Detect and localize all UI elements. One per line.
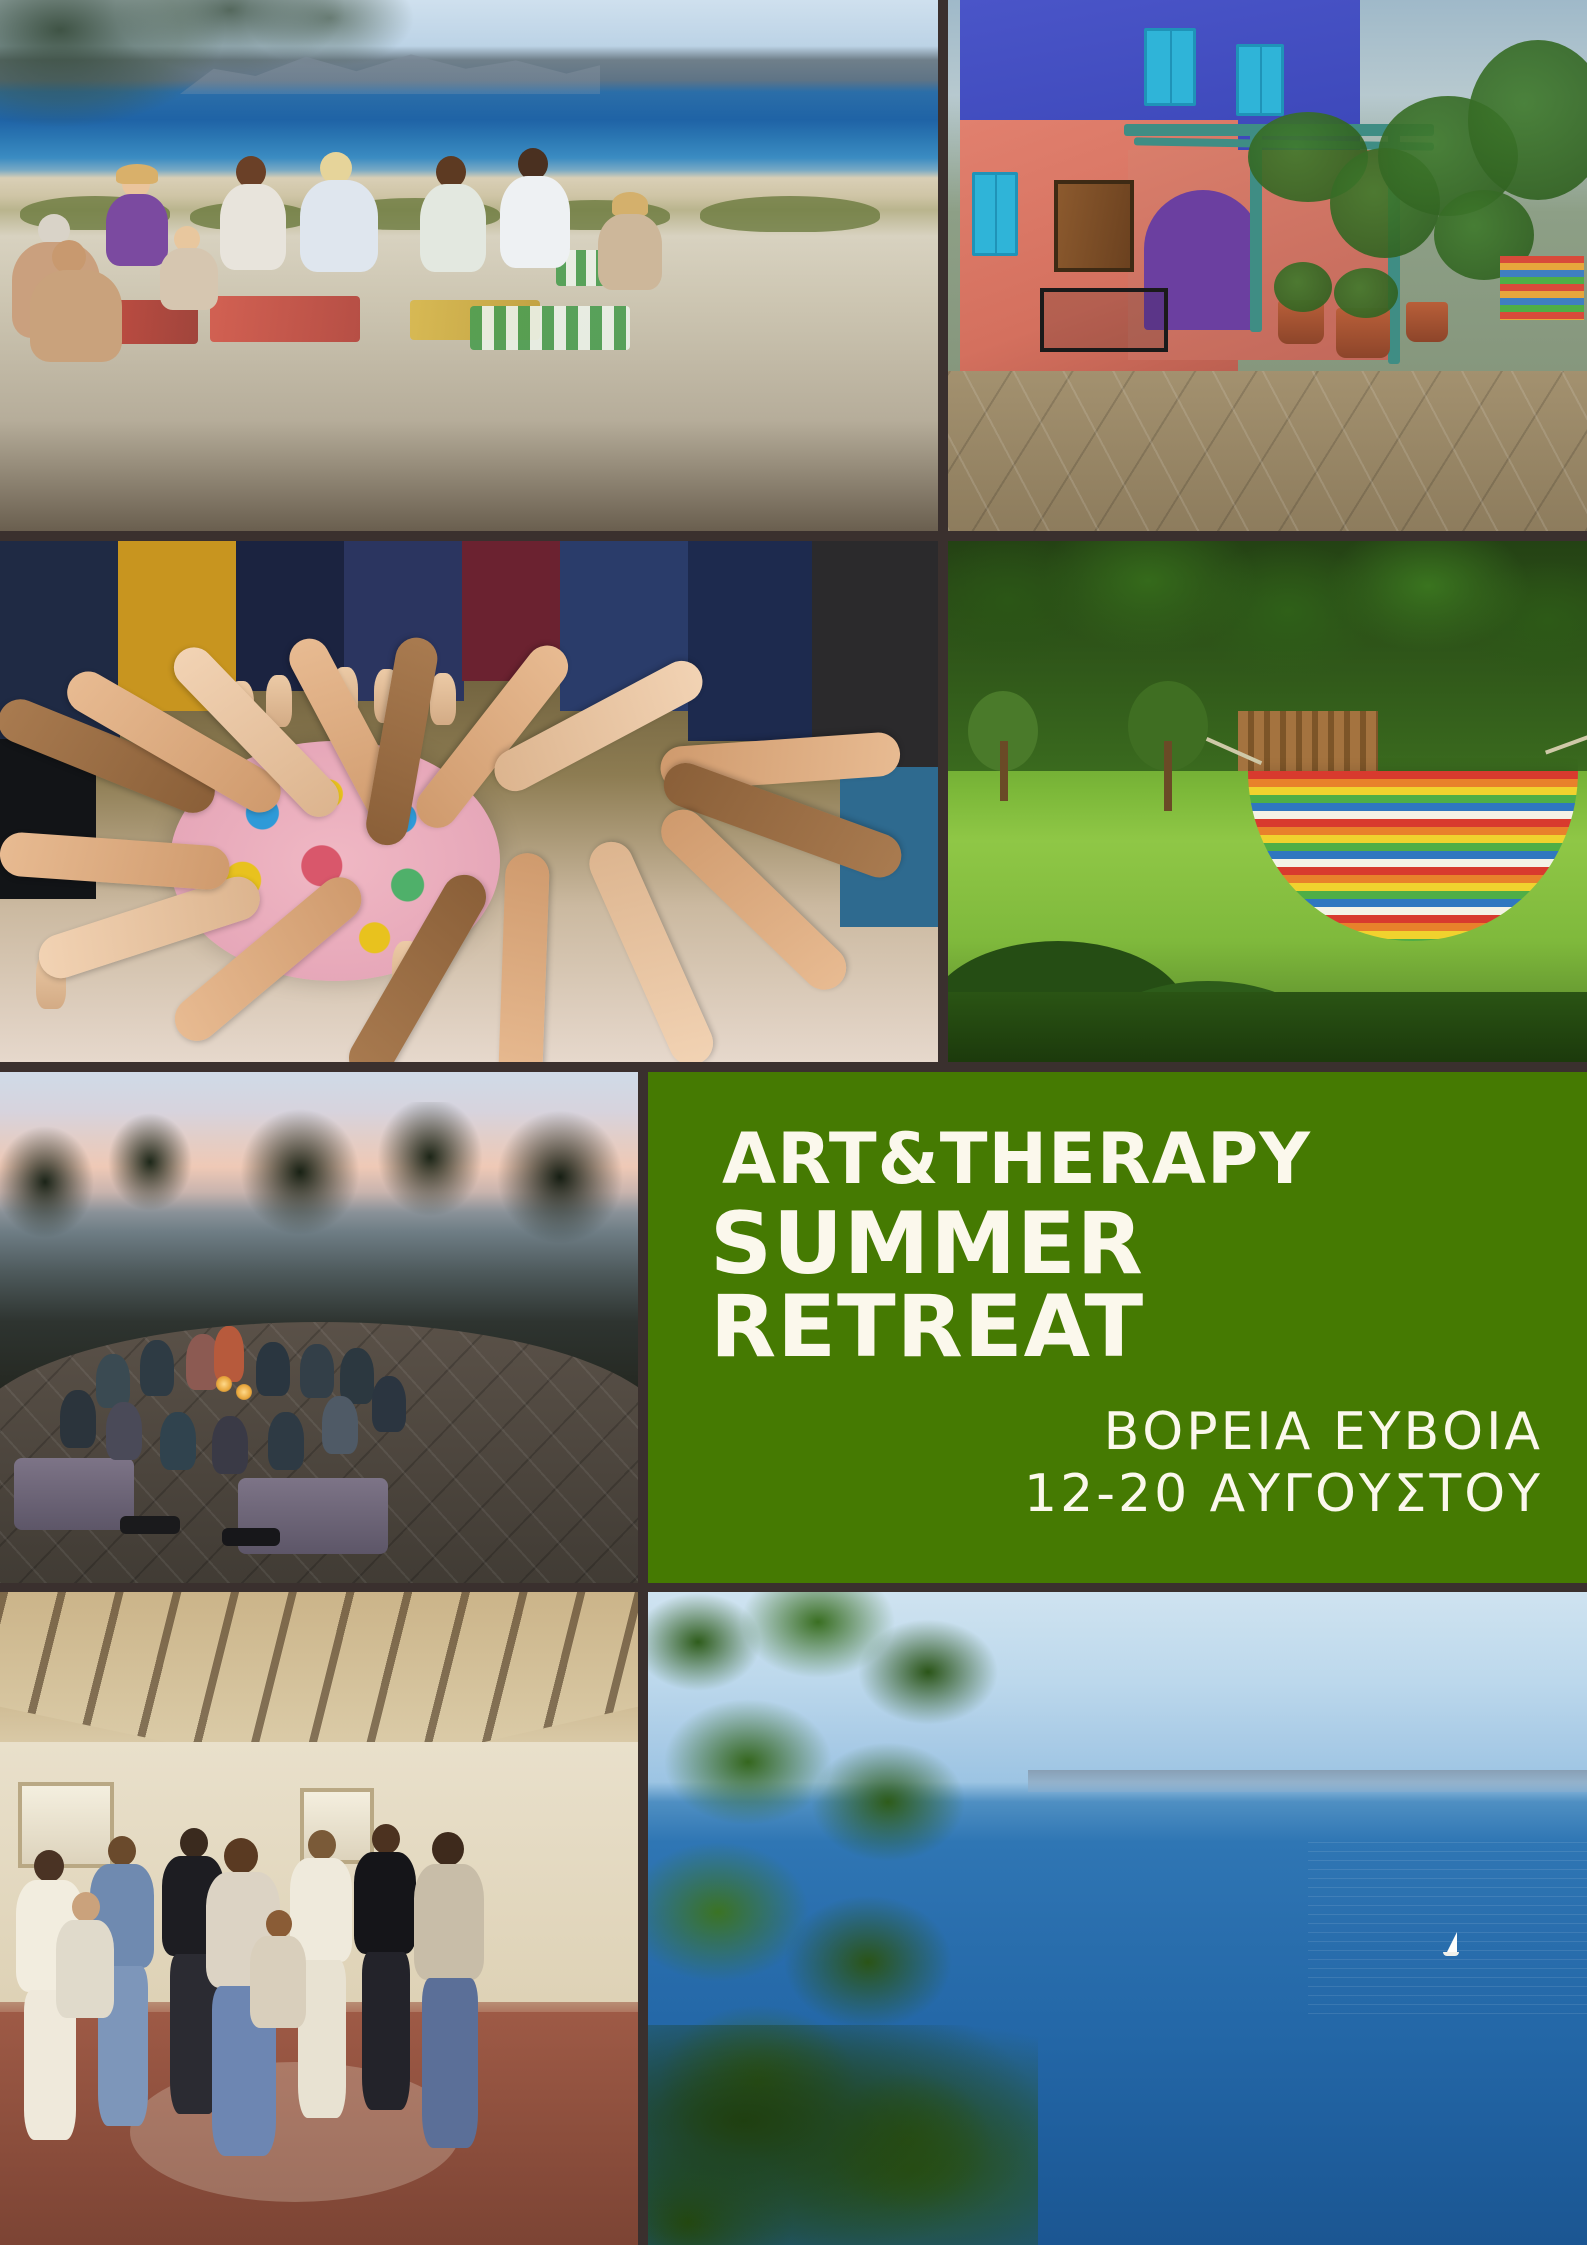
participant-arm <box>498 852 550 1062</box>
room-window <box>18 1782 114 1868</box>
tree-trunk <box>1164 741 1172 811</box>
title-panel: ART&THERAPY SUMMER RETREAT ΒΟΡΕΙΑ ΕΥΒΟΙΑ… <box>648 1072 1587 1583</box>
beach-scrub <box>700 196 880 232</box>
evening-person <box>96 1354 130 1408</box>
beach-towel <box>210 296 360 342</box>
photo-hands-mandala-circle <box>0 541 938 1062</box>
evening-person <box>268 1412 304 1470</box>
evening-person <box>106 1402 142 1460</box>
window-shutter <box>1144 28 1196 106</box>
floor-cushion <box>14 1458 134 1530</box>
evening-person <box>160 1412 196 1470</box>
distant-coastline <box>1028 1770 1587 1792</box>
photo-evening-fire-circle <box>0 1072 638 1583</box>
evening-treeline <box>0 1102 638 1272</box>
photo-garden-hammock <box>948 541 1587 1062</box>
photo-indoor-dance-circle <box>0 1592 638 2245</box>
evening-person <box>300 1344 334 1398</box>
stone-paving <box>948 371 1587 531</box>
evening-person <box>340 1348 374 1404</box>
shoes <box>120 1516 180 1534</box>
evening-person <box>256 1342 290 1396</box>
photo-sea-view-sailboat <box>648 1592 1587 2245</box>
sailboat <box>1443 1932 1459 1958</box>
lantern-light <box>216 1376 232 1392</box>
garden-foreground <box>948 992 1587 1062</box>
wooden-shutters <box>1054 180 1134 272</box>
title-subheading: ΒΟΡΕΙΑ ΕΥΒΟΙΑ 12-20 ΑΥΓΟΥΣΤΟΥ <box>700 1402 1543 1525</box>
sailboat-hull <box>1443 1952 1459 1956</box>
retreat-location: ΒΟΡΕΙΑ ΕΥΒΟΙΑ <box>700 1402 1543 1463</box>
poster-root: ART&THERAPY SUMMER RETREAT ΒΟΡΕΙΑ ΕΥΒΟΙΑ… <box>0 0 1587 2245</box>
evening-person <box>60 1390 96 1448</box>
beach-towel <box>470 306 630 350</box>
bare-foot <box>430 673 456 725</box>
shoes <box>222 1528 280 1546</box>
title-line-1: ART&THERAPY <box>722 1126 1543 1193</box>
photo-beach-group-circle <box>0 0 938 531</box>
evening-person <box>214 1326 244 1382</box>
window-shutter <box>1236 44 1284 116</box>
participant-clothing <box>688 541 818 741</box>
evening-person <box>372 1376 406 1432</box>
potted-plant <box>1334 268 1398 318</box>
sailboat-sail <box>1447 1932 1457 1952</box>
evening-person <box>140 1340 174 1396</box>
potted-plant <box>1274 262 1332 312</box>
evening-person <box>322 1396 358 1454</box>
foreground-foliage <box>648 2025 1038 2245</box>
flower-pot <box>1406 302 1448 342</box>
title-line-2: SUMMER RETREAT <box>710 1203 1543 1368</box>
window-shutter <box>972 172 1018 256</box>
striped-cloth <box>1500 256 1584 320</box>
lantern-light <box>236 1384 252 1400</box>
metal-table <box>1040 288 1168 352</box>
tree-trunk <box>1000 741 1008 801</box>
retreat-dates: 12-20 ΑΥΓΟΥΣΤΟΥ <box>700 1464 1543 1525</box>
title-heading: ART&THERAPY SUMMER RETREAT <box>700 1126 1543 1368</box>
evening-person <box>212 1416 248 1474</box>
photo-blue-pink-house <box>948 0 1587 531</box>
